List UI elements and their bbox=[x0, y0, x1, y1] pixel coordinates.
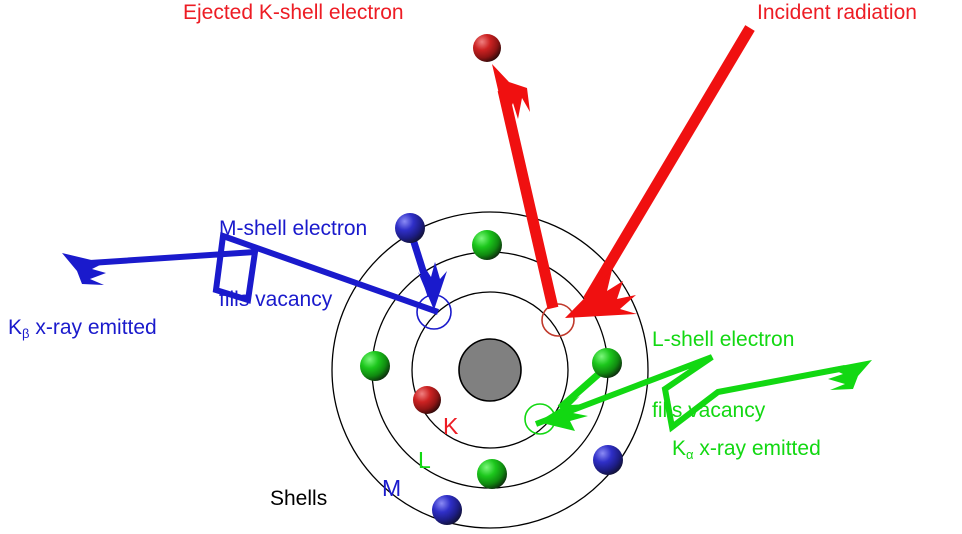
electron-k-shell-red bbox=[413, 386, 441, 414]
k-beta-prefix: K bbox=[8, 316, 22, 339]
label-ejected-k-shell-electron: Ejected K-shell electron bbox=[183, 1, 404, 25]
electron-m-shell-top bbox=[395, 213, 425, 243]
shell-label-m: M bbox=[382, 475, 401, 502]
electron-l-shell-bottom bbox=[477, 459, 507, 489]
shell-label-k: K bbox=[443, 413, 458, 440]
xray-fluorescence-diagram: Ejected K-shell electron Incident radiat… bbox=[0, 0, 962, 534]
label-m-shell-fills-line2: fills vacancy bbox=[219, 288, 367, 312]
label-shells-line1: Shells bbox=[270, 487, 335, 511]
label-k-alpha-xray-emitted: Kα x-ray emitted bbox=[672, 437, 821, 461]
label-l-shell-fills-line2: fills vacancy bbox=[652, 399, 794, 423]
k-beta-suffix: x-ray emitted bbox=[30, 316, 157, 339]
shell-label-l: L bbox=[418, 447, 431, 474]
k-alpha-suffix: x-ray emitted bbox=[694, 437, 821, 460]
label-incident-radiation: Incident radiation bbox=[757, 1, 917, 25]
label-shells-orbits: Shells (orbits) bbox=[270, 440, 335, 534]
label-l-shell-fills-line1: L-shell electron bbox=[652, 328, 794, 352]
electron-l-shell-top bbox=[472, 230, 502, 260]
electrons bbox=[360, 34, 623, 525]
label-m-shell-fills-line1: M-shell electron bbox=[219, 217, 367, 241]
k-alpha-arrowhead bbox=[828, 360, 872, 390]
label-k-beta-xray-emitted: Kβ x-ray emitted bbox=[8, 316, 157, 340]
electron-ejected bbox=[473, 34, 501, 62]
electron-m-shell-bottom bbox=[432, 495, 462, 525]
ejected-electron-arrow bbox=[492, 64, 553, 308]
electron-l-shell-right bbox=[592, 348, 622, 378]
electron-m-shell-right bbox=[593, 445, 623, 475]
k-beta-subscript: β bbox=[22, 326, 30, 341]
k-beta-arrowhead bbox=[62, 253, 106, 285]
nucleus bbox=[459, 339, 521, 401]
k-alpha-subscript: α bbox=[686, 447, 694, 462]
k-alpha-prefix: K bbox=[672, 437, 686, 460]
m-shell-transition-arrow bbox=[412, 236, 447, 310]
incident-radiation-arrow bbox=[565, 28, 750, 318]
label-m-shell-fills-vacancy: M-shell electron fills vacancy bbox=[219, 170, 367, 358]
